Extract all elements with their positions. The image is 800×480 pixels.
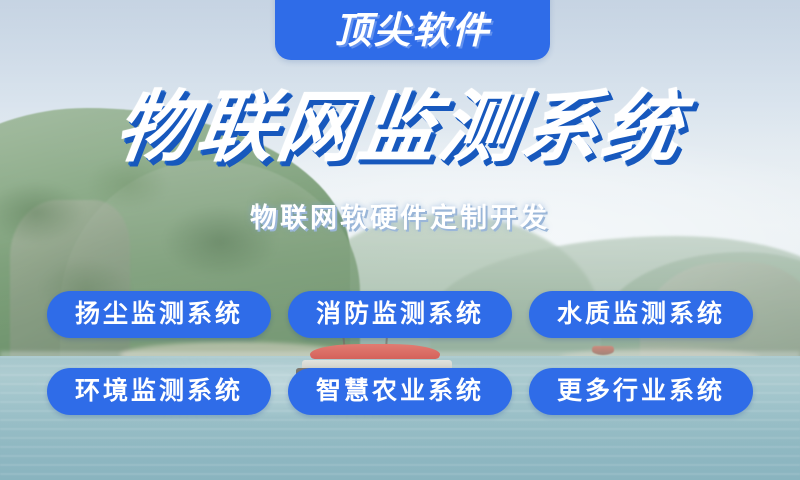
- system-pill-list: 扬尘监测系统 消防监测系统 水质监测系统 环境监测系统 智慧农业系统 更多行业系…: [0, 291, 800, 445]
- brand-badge[interactable]: 顶尖软件: [275, 0, 550, 60]
- pill-smart-agriculture[interactable]: 智慧农业系统: [288, 368, 512, 415]
- pill-environment-monitoring[interactable]: 环境监测系统: [47, 368, 271, 415]
- hero-subtitle-text: 物联网软硬件定制开发: [250, 205, 550, 232]
- system-pill-row-2: 环境监测系统 智慧农业系统 更多行业系统: [0, 368, 800, 415]
- brand-badge-label: 顶尖软件: [335, 12, 491, 60]
- pill-label: 更多行业系统: [557, 379, 725, 404]
- pill-label: 水质监测系统: [557, 302, 725, 327]
- hero-subtitle: 物联网软硬件定制开发: [0, 205, 800, 232]
- pill-water-quality-monitoring[interactable]: 水质监测系统: [529, 291, 753, 338]
- pill-fire-monitoring[interactable]: 消防监测系统: [288, 291, 512, 338]
- pill-label: 环境监测系统: [75, 379, 243, 404]
- hero-title: 物联网监测系统: [0, 88, 800, 166]
- promo-banner: 顶尖软件 物联网监测系统 物联网软硬件定制开发 扬尘监测系统 消防监测系统 水质…: [0, 0, 800, 480]
- system-pill-row-1: 扬尘监测系统 消防监测系统 水质监测系统: [0, 291, 800, 338]
- pill-label: 智慧农业系统: [316, 379, 484, 404]
- pill-label: 消防监测系统: [316, 302, 484, 327]
- pill-dust-monitoring[interactable]: 扬尘监测系统: [47, 291, 271, 338]
- pill-label: 扬尘监测系统: [75, 302, 243, 327]
- pill-more-industry-systems[interactable]: 更多行业系统: [529, 368, 753, 415]
- banner-content: 顶尖软件 物联网监测系统 物联网软硬件定制开发 扬尘监测系统 消防监测系统 水质…: [0, 0, 800, 480]
- hero-title-text: 物联网监测系统: [111, 88, 689, 166]
